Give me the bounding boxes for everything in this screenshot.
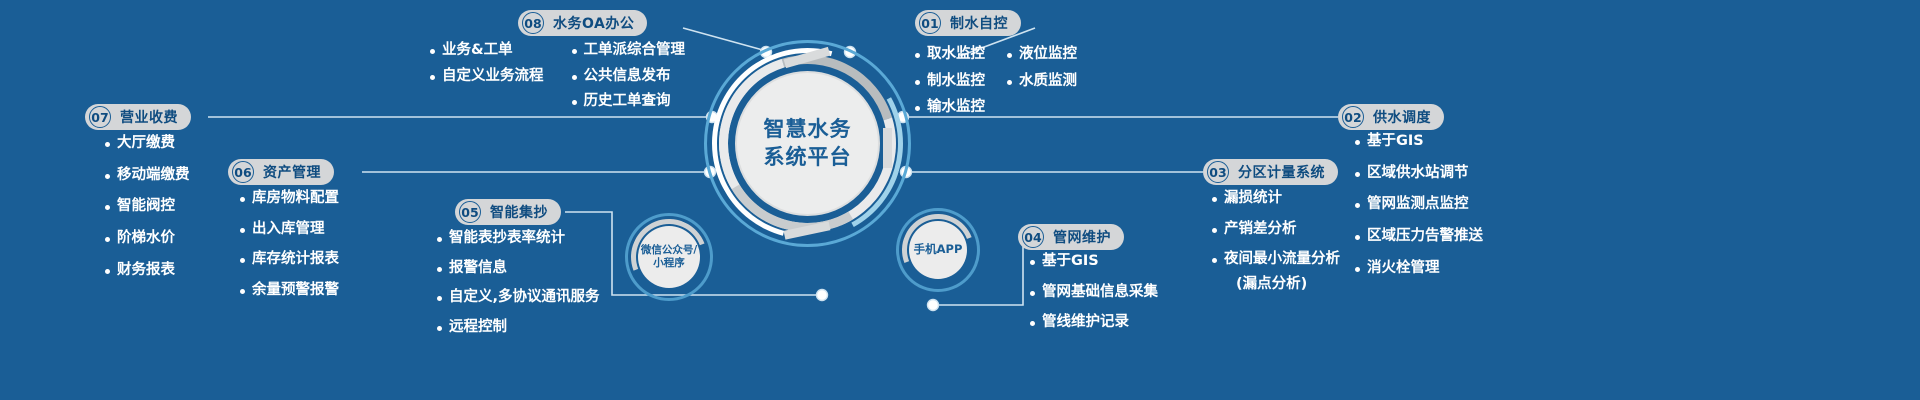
section-pill-03[interactable]: 03 分区计量系统 <box>1203 159 1338 185</box>
bullet-dot <box>240 289 245 294</box>
section-list-01-col1: 取水监控 制水监控 输水监控 <box>915 46 985 116</box>
wechat-label-line1: 微信公众号/ <box>641 244 697 256</box>
list-item: 基于GIS <box>1030 253 1158 270</box>
bullet-dot <box>1212 197 1217 202</box>
list-item: 区域供水站调节 <box>1355 165 1483 182</box>
list-item-label: 报警信息 <box>449 260 507 277</box>
bullet-dot <box>105 205 110 210</box>
list-item: 历史工单查询 <box>572 93 686 110</box>
list-item: 输水监控 <box>915 99 985 116</box>
central-hub: 智慧水务 系统平台 <box>700 36 915 251</box>
list-item: 制水监控 <box>915 73 985 90</box>
list-item-label: 管线维护记录 <box>1042 314 1129 331</box>
section-list-03: 漏损统计 产销差分析 夜间最小流量分析 (漏点分析) <box>1212 190 1340 293</box>
list-item: 公共信息发布 <box>572 68 686 85</box>
node-04 <box>928 300 939 311</box>
section-pill-08[interactable]: 水务OA办公 08 <box>518 10 647 36</box>
list-item-label: 区域供水站调节 <box>1367 165 1469 182</box>
list-item-label: 区域压力告警推送 <box>1367 228 1483 245</box>
section-list-07: 大厅缴费 移动端缴费 智能阀控 阶梯水价 财务报表 <box>105 135 190 278</box>
list-item-label: 水质监测 <box>1019 73 1077 90</box>
list-item: 移动端缴费 <box>105 167 190 184</box>
section-pill-06[interactable]: 资产管理 06 <box>228 159 334 185</box>
bullet-dot <box>1355 140 1360 145</box>
list-item-label: 移动端缴费 <box>117 167 190 184</box>
section-list-08: 业务&工单 自定义业务流程 工单派综合管理 公共信息发布 历史工单查询 <box>430 42 685 110</box>
bullet-dot <box>1212 228 1217 233</box>
list-item: 消火栓管理 <box>1355 260 1483 277</box>
list-item-label: 取水监控 <box>927 46 985 63</box>
section-list-01-col2: 液位监控 水质监测 <box>1007 46 1077 116</box>
bullet-dot <box>1030 321 1035 326</box>
bullet-dot <box>1355 172 1360 177</box>
list-item: 库存统计报表 <box>240 251 339 268</box>
section-pill-04[interactable]: 04 管网维护 <box>1018 224 1124 250</box>
list-item-label: 出入库管理 <box>252 221 325 238</box>
list-item-label: 业务&工单 <box>442 42 513 59</box>
satellite-mobile-app[interactable]: 手机APP <box>896 208 980 292</box>
app-label: 手机APP <box>914 243 963 257</box>
bullet-dot <box>240 197 245 202</box>
section-pill-05[interactable]: 智能集抄 05 <box>455 199 561 225</box>
list-item-label: 库存统计报表 <box>252 251 339 268</box>
hub-center-disc: 智慧水务 系统平台 <box>737 73 878 214</box>
list-item: 产销差分析 <box>1212 221 1340 238</box>
section-pill-07[interactable]: 营业收费 07 <box>85 104 191 130</box>
list-item: 智能表抄表率统计 <box>437 230 600 247</box>
hub-notch-right <box>883 128 892 168</box>
list-item-label: 库房物料配置 <box>252 190 339 207</box>
section-list-08-col1: 业务&工单 自定义业务流程 <box>430 42 544 110</box>
bullet-dot <box>915 53 920 58</box>
list-item: 自定义业务流程 <box>430 68 544 85</box>
wechat-label-line2: 小程序 <box>653 257 685 269</box>
bullet-dot <box>240 228 245 233</box>
list-item: 区域压力告警推送 <box>1355 228 1483 245</box>
bullet-dot <box>105 142 110 147</box>
list-item-label: 智能表抄表率统计 <box>449 230 565 247</box>
bullet-dot <box>1030 291 1035 296</box>
list-item-label: 历史工单查询 <box>584 93 671 110</box>
bullet-dot <box>572 75 577 80</box>
list-item-label: 财务报表 <box>117 262 175 279</box>
list-item-label: 智能阀控 <box>117 198 175 215</box>
bullet-dot <box>430 75 435 80</box>
list-item: 管网监测点监控 <box>1355 196 1483 213</box>
list-item: 余量预警报警 <box>240 282 339 299</box>
bullet-dot <box>1007 80 1012 85</box>
list-item: 液位监控 <box>1007 46 1077 63</box>
list-item-label: 自定义,多协议通讯服务 <box>449 289 600 306</box>
infographic-canvas: 智慧水务 系统平台 微信公众号/ 小程序 手机APP 水务OA办公 08 业务& <box>0 0 1920 400</box>
list-item: 基于GIS <box>1355 133 1483 150</box>
bullet-dot <box>105 174 110 179</box>
list-item-label: 大厅缴费 <box>117 135 175 152</box>
list-item: 夜间最小流量分析 <box>1212 251 1340 268</box>
bullet-dot <box>240 258 245 263</box>
list-item-label: 远程控制 <box>449 319 507 336</box>
bullet-dot <box>1212 258 1217 263</box>
bullet-dot <box>1224 283 1229 288</box>
list-item: 取水监控 <box>915 46 985 63</box>
section-title-04: 管网维护 <box>1044 227 1120 247</box>
list-item-label: 制水监控 <box>927 73 985 90</box>
hub-title-line2: 系统平台 <box>764 144 852 172</box>
section-title-02: 供水调度 <box>1364 107 1440 127</box>
list-item-label: 工单派综合管理 <box>584 42 686 59</box>
section-title-06: 资产管理 <box>254 162 330 182</box>
list-item: 管线维护记录 <box>1030 314 1158 331</box>
bullet-dot <box>1355 267 1360 272</box>
list-item: 自定义,多协议通讯服务 <box>437 289 600 306</box>
bullet-dot <box>437 326 442 331</box>
bullet-dot <box>572 49 577 54</box>
bullet-dot <box>437 267 442 272</box>
section-list-04: 基于GIS 管网基础信息采集 管线维护记录 <box>1030 253 1158 331</box>
list-item-label: 公共信息发布 <box>584 68 671 85</box>
section-list-05: 智能表抄表率统计 报警信息 自定义,多协议通讯服务 远程控制 <box>437 230 600 336</box>
satellite-wechat[interactable]: 微信公众号/ 小程序 <box>625 213 713 301</box>
list-item: 阶梯水价 <box>105 230 190 247</box>
section-number-08: 08 <box>522 12 544 34</box>
section-list-08-col2: 工单派综合管理 公共信息发布 历史工单查询 <box>572 42 686 110</box>
list-item: 工单派综合管理 <box>572 42 686 59</box>
section-number-01: 01 <box>919 12 941 34</box>
node-05 <box>817 290 828 301</box>
list-item: 管网基础信息采集 <box>1030 284 1158 301</box>
list-item-label: 管网基础信息采集 <box>1042 284 1158 301</box>
list-item: 库房物料配置 <box>240 190 339 207</box>
list-item-label: 基于GIS <box>1042 253 1099 270</box>
section-list-02: 基于GIS 区域供水站调节 管网监测点监控 区域压力告警推送 消火栓管理 <box>1355 133 1483 276</box>
list-item-label: 基于GIS <box>1367 133 1424 150</box>
list-item-label: 自定义业务流程 <box>442 68 544 85</box>
section-title-05: 智能集抄 <box>481 202 557 222</box>
section-number-03: 03 <box>1207 161 1229 183</box>
section-list-06: 库房物料配置 出入库管理 库存统计报表 余量预警报警 <box>240 190 339 299</box>
bullet-dot <box>105 237 110 242</box>
list-item-label: 夜间最小流量分析 <box>1224 251 1340 268</box>
section-list-01: 取水监控 制水监控 输水监控 液位监控 水质监测 <box>915 46 1077 116</box>
list-item: 智能阀控 <box>105 198 190 215</box>
bullet-dot <box>1355 203 1360 208</box>
bullet-dot <box>1030 260 1035 265</box>
list-item: (漏点分析) <box>1212 276 1340 293</box>
section-title-03: 分区计量系统 <box>1229 162 1334 182</box>
section-number-02: 02 <box>1342 106 1364 128</box>
list-item-label: (漏点分析) <box>1236 276 1307 293</box>
list-item: 远程控制 <box>437 319 600 336</box>
list-item-label: 产销差分析 <box>1224 221 1297 238</box>
bullet-dot <box>1355 235 1360 240</box>
list-item-label: 液位监控 <box>1019 46 1077 63</box>
bullet-dot <box>572 100 577 105</box>
list-item: 财务报表 <box>105 262 190 279</box>
bullet-dot <box>437 296 442 301</box>
section-number-06: 06 <box>232 161 254 183</box>
list-item-label: 漏损统计 <box>1224 190 1282 207</box>
section-number-05: 05 <box>459 201 481 223</box>
bullet-dot <box>430 49 435 54</box>
wechat-core: 微信公众号/ 小程序 <box>638 226 700 288</box>
list-item: 报警信息 <box>437 260 600 277</box>
list-item: 出入库管理 <box>240 221 339 238</box>
section-number-07: 07 <box>89 106 111 128</box>
list-item: 漏损统计 <box>1212 190 1340 207</box>
section-pill-01[interactable]: 01 制水自控 <box>915 10 1021 36</box>
app-core: 手机APP <box>909 221 967 279</box>
bullet-dot <box>915 106 920 111</box>
list-item-label: 阶梯水价 <box>117 230 175 247</box>
section-title-08: 水务OA办公 <box>544 13 643 33</box>
section-number-04: 04 <box>1022 226 1044 248</box>
list-item-label: 管网监测点监控 <box>1367 196 1469 213</box>
list-item-label: 消火栓管理 <box>1367 260 1440 277</box>
hub-title-line1: 智慧水务 <box>764 116 852 144</box>
bullet-dot <box>105 269 110 274</box>
section-title-07: 营业收费 <box>111 107 187 127</box>
bullet-dot <box>437 237 442 242</box>
list-item-label: 余量预警报警 <box>252 282 339 299</box>
bullet-dot <box>915 80 920 85</box>
bullet-dot <box>1007 53 1012 58</box>
section-pill-02[interactable]: 02 供水调度 <box>1338 104 1444 130</box>
list-item: 大厅缴费 <box>105 135 190 152</box>
list-item: 水质监测 <box>1007 73 1077 90</box>
list-item-label: 输水监控 <box>927 99 985 116</box>
section-title-01: 制水自控 <box>941 13 1017 33</box>
list-item: 业务&工单 <box>430 42 544 59</box>
